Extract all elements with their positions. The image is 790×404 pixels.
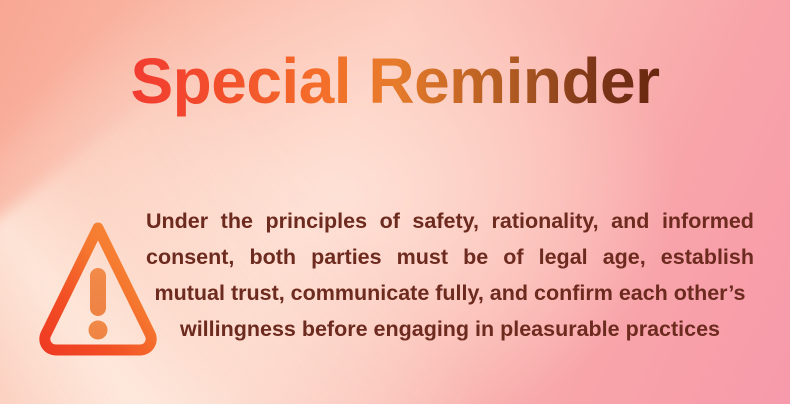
warning-triangle-icon <box>38 212 158 358</box>
message-word: informed <box>662 203 754 239</box>
message-word: age, <box>603 239 646 275</box>
message-word: principles <box>265 203 367 239</box>
message-line-1: Under the principles of safety, rational… <box>146 203 754 239</box>
message-word: Under <box>146 203 208 239</box>
message-word: establish <box>661 239 754 275</box>
message-word: the <box>221 203 253 239</box>
special-reminder-banner: Special Reminder Under <box>0 0 790 404</box>
message-word: of <box>503 239 523 275</box>
message-word: consent, <box>146 239 234 275</box>
message-word: be <box>463 239 488 275</box>
message-word: safety, <box>412 203 479 239</box>
reminder-message: Under the principles of safety, rational… <box>146 203 754 347</box>
page-title: Special Reminder <box>130 44 659 118</box>
message-word: and <box>611 203 649 239</box>
title-row: Special Reminder <box>0 44 790 118</box>
exclamation-bar <box>90 268 106 316</box>
message-word: legal <box>539 239 588 275</box>
message-word: both <box>249 239 296 275</box>
exclamation-dot <box>89 321 108 340</box>
message-line-3: mutual trust, communicate fully, and con… <box>146 275 754 311</box>
message-word: of <box>380 203 400 239</box>
message-word: rationality, <box>492 203 599 239</box>
message-line-2: consent, both parties must be of legal a… <box>146 239 754 275</box>
message-word: parties <box>311 239 382 275</box>
message-word: must <box>397 239 448 275</box>
message-line-4: willingness before engaging in pleasurab… <box>146 311 754 347</box>
